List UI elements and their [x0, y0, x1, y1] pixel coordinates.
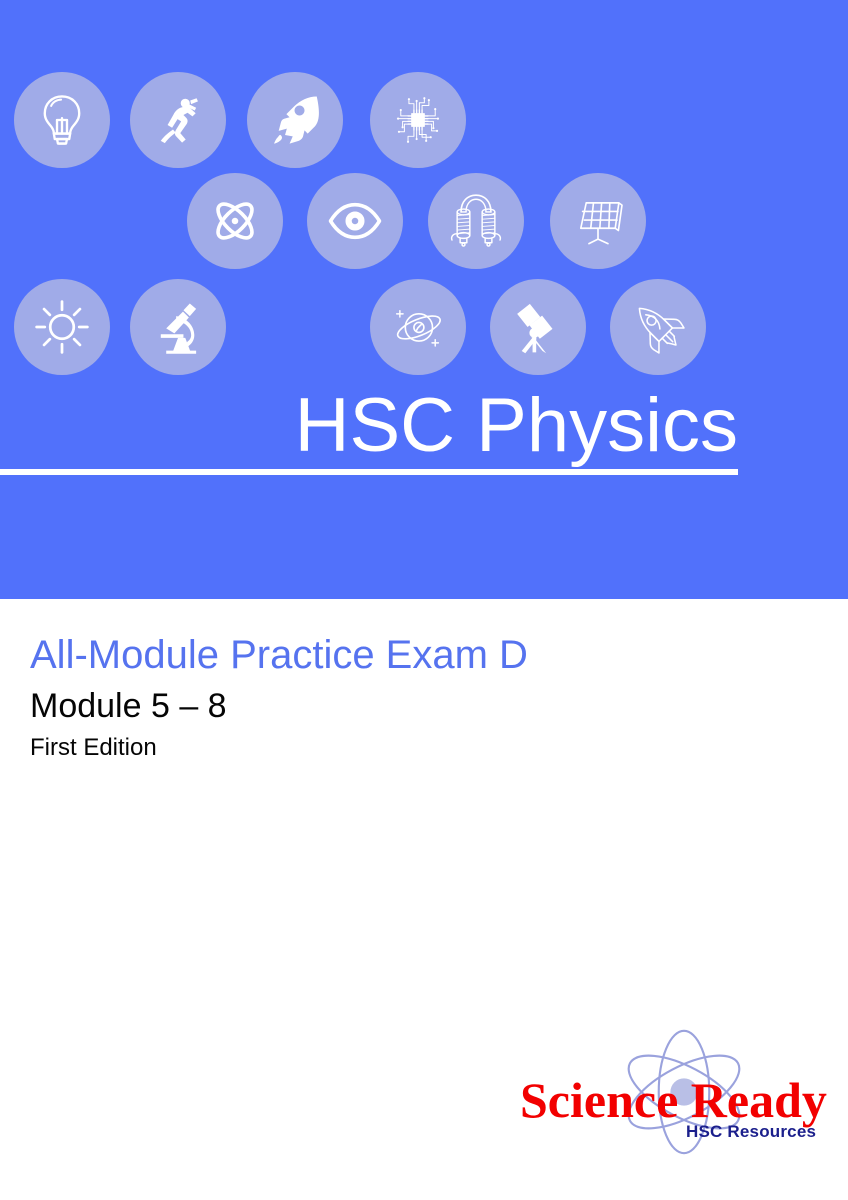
science-ready-logo: Science Ready HSC Resources — [520, 1022, 820, 1162]
hero-panel: HSC Physics — [0, 0, 848, 599]
icon-badge-running-person — [130, 72, 226, 168]
icon-badge-electromagnet — [428, 173, 524, 269]
document-cover: HSC Physics All-Module Practice Exam D M… — [0, 0, 848, 1200]
logo-tagline: HSC Resources — [686, 1122, 816, 1142]
icon-badge-atom — [187, 173, 283, 269]
icon-badge-ringed-planet — [370, 279, 466, 375]
icon-badge-rocket — [247, 72, 343, 168]
microchip-icon — [389, 91, 447, 149]
icon-badge-telescope — [490, 279, 586, 375]
document-meta: All-Module Practice Exam D Module 5 – 8 … — [30, 628, 810, 766]
icon-badge-sun — [14, 279, 110, 375]
hero-title-underline — [0, 469, 738, 475]
electromagnet-icon — [447, 192, 505, 250]
lightbulb-icon — [33, 91, 91, 149]
icon-badge-microchip — [370, 72, 466, 168]
document-subtitle: Module 5 – 8 — [30, 682, 810, 730]
rocket-icon — [266, 91, 324, 149]
icon-badge-eye — [307, 173, 403, 269]
icon-badge-microscope — [130, 279, 226, 375]
document-edition: First Edition — [30, 730, 810, 766]
running-person-icon — [149, 91, 207, 149]
icon-badge-lightbulb — [14, 72, 110, 168]
icon-badge-rocket-outline — [610, 279, 706, 375]
logo-wordmark: Science Ready — [520, 1074, 820, 1126]
icon-badge-solar-panel — [550, 173, 646, 269]
sun-icon — [33, 298, 91, 356]
atom-icon — [206, 192, 264, 250]
solar-panel-icon — [569, 192, 627, 250]
hero-title: HSC Physics — [0, 386, 738, 466]
rocket-outline-icon — [629, 298, 687, 356]
ringed-planet-icon — [389, 298, 447, 356]
telescope-icon — [509, 298, 567, 356]
eye-icon — [326, 192, 384, 250]
microscope-icon — [149, 298, 207, 356]
document-title: All-Module Practice Exam D — [30, 628, 810, 682]
